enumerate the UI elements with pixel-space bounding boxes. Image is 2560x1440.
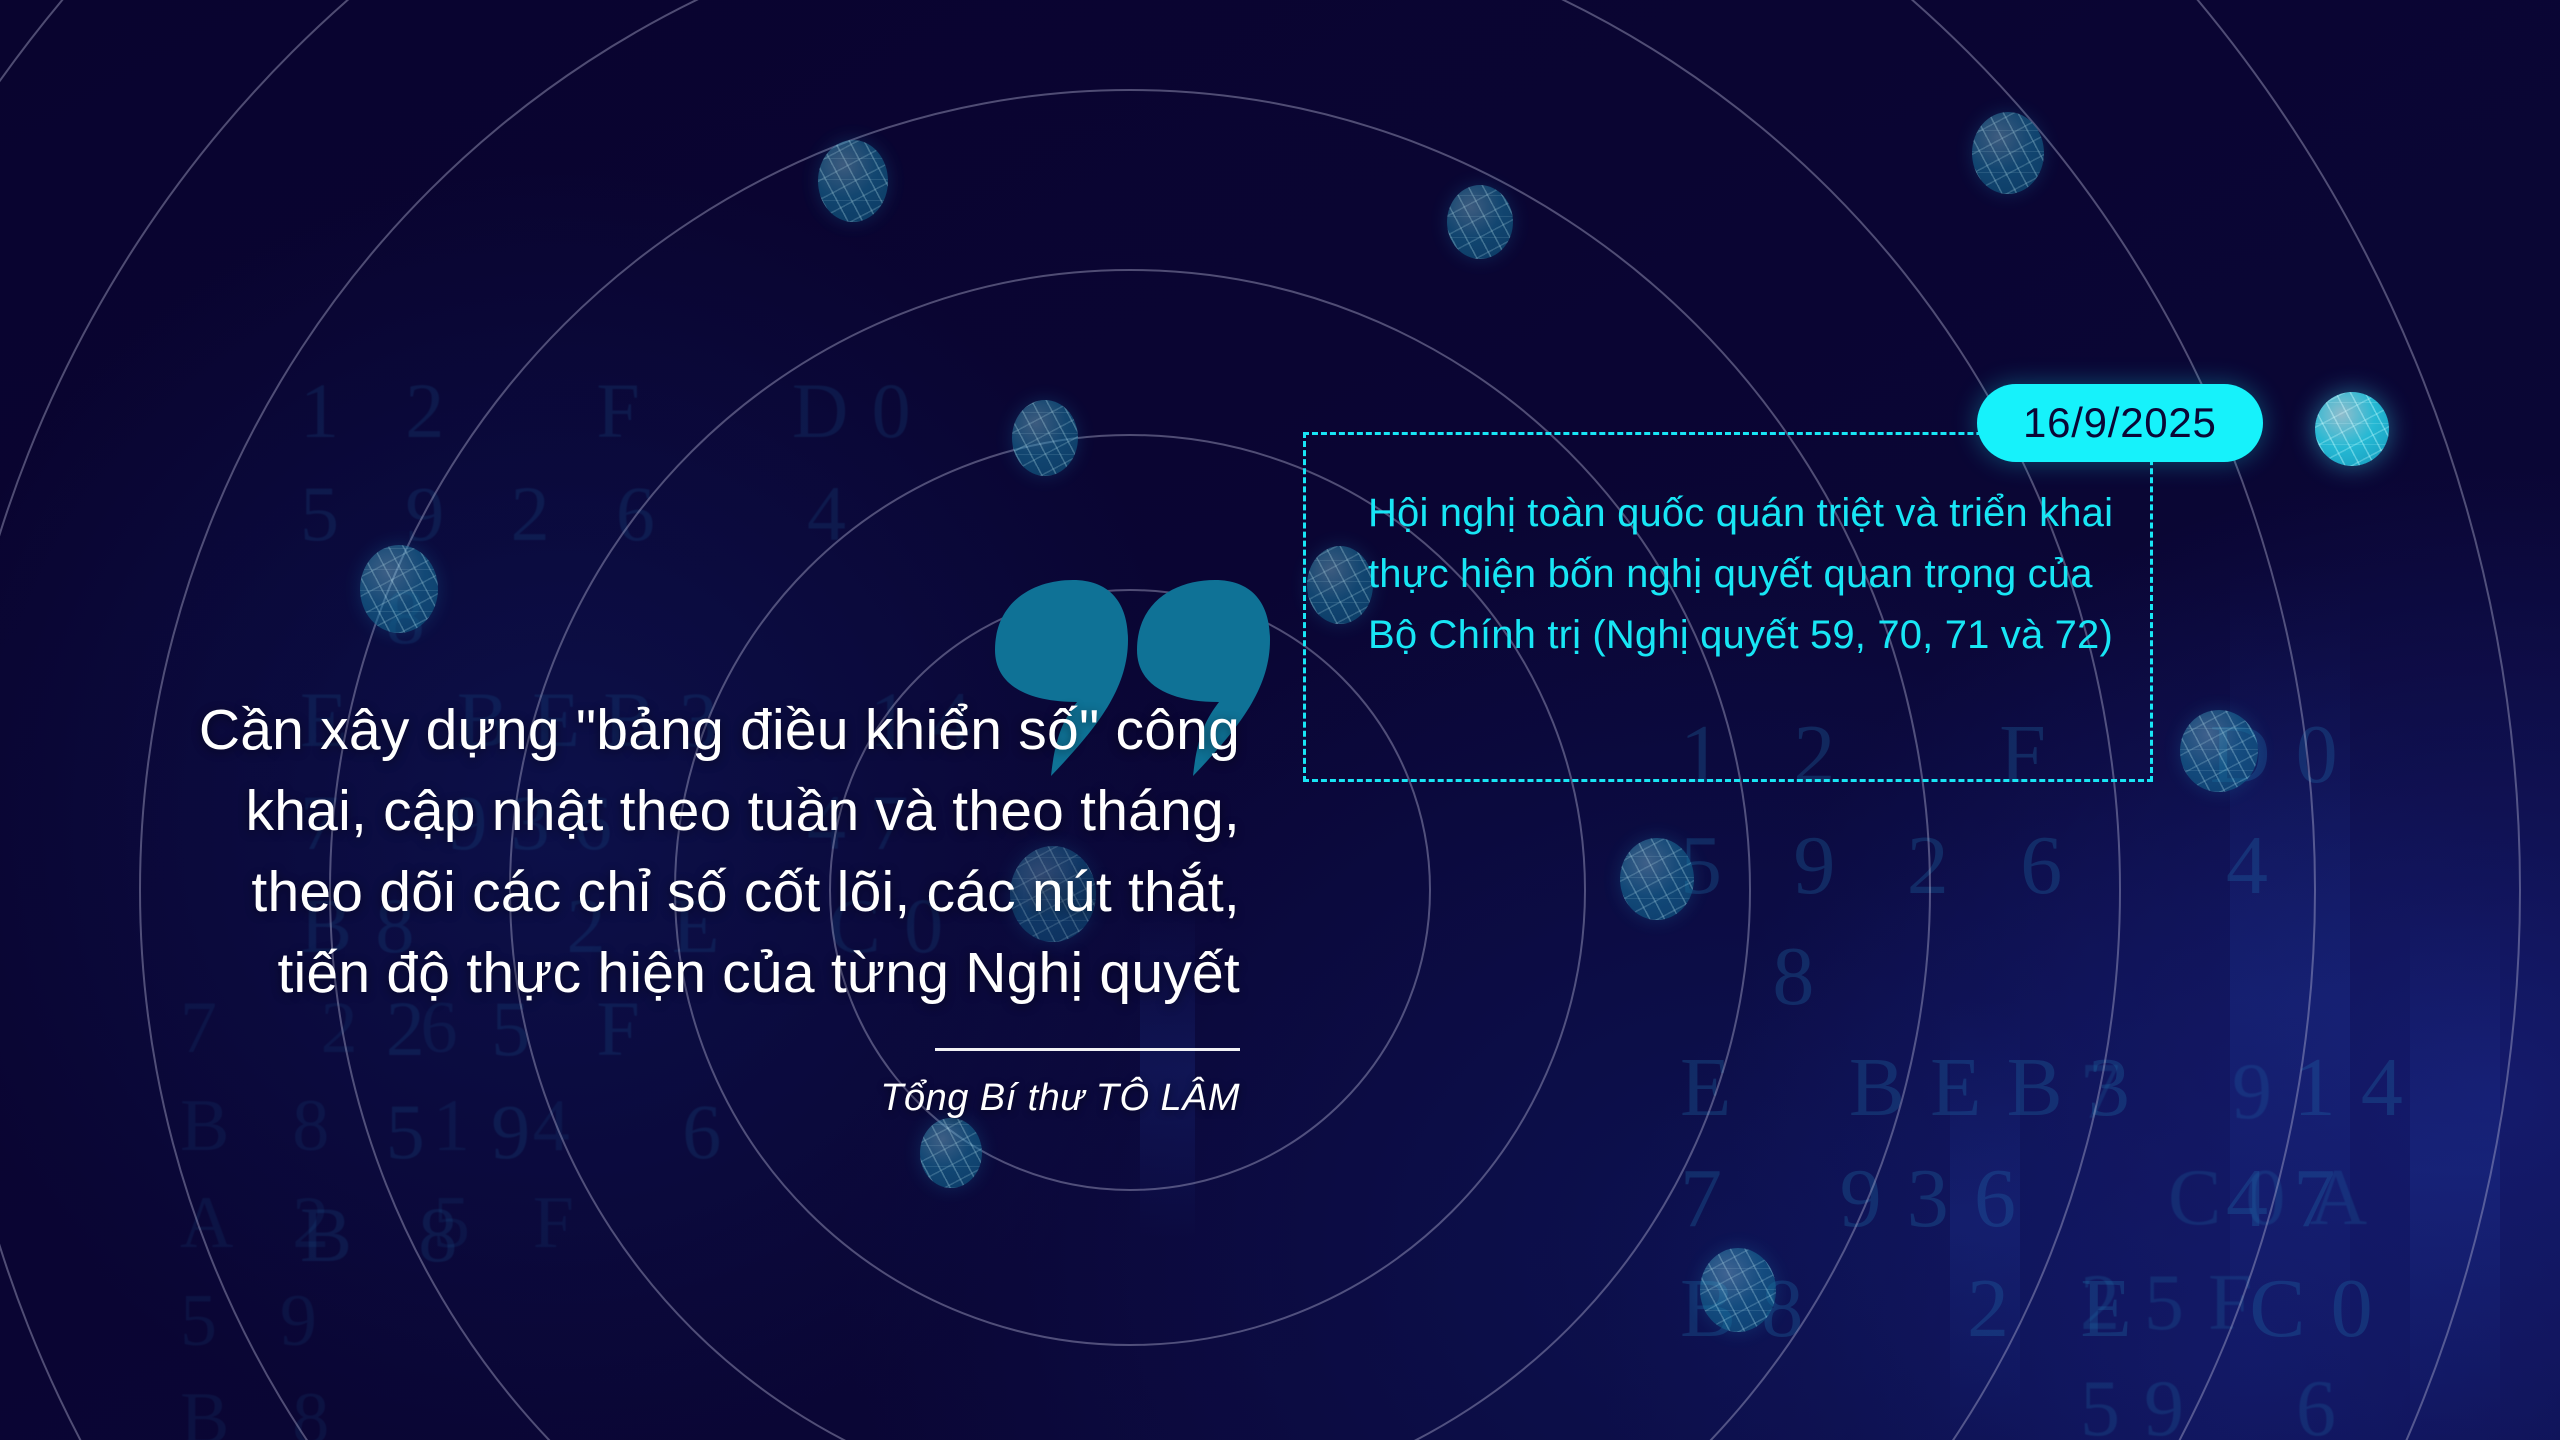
- quote-block: Cần xây dựng "bảng điều khiển số" công k…: [150, 690, 1240, 1120]
- slide-canvas: 1 2 F D0 5 9 2 6 4 8 E BEB3 14 7 936 47 …: [0, 0, 2560, 1440]
- quote-author: Tổng Bí thư TÔ LÂM: [150, 1077, 1240, 1120]
- quote-text: Cần xây dựng "bảng điều khiển số" công k…: [150, 690, 1240, 1014]
- event-panel-text: Hội nghị toàn quốc quán triệt và triển k…: [1368, 483, 2140, 665]
- quote-divider: [935, 1048, 1240, 1051]
- date-badge[interactable]: 16/9/2025: [1977, 384, 2263, 462]
- event-panel: Hội nghị toàn quốc quán triệt và triển k…: [1303, 432, 2153, 782]
